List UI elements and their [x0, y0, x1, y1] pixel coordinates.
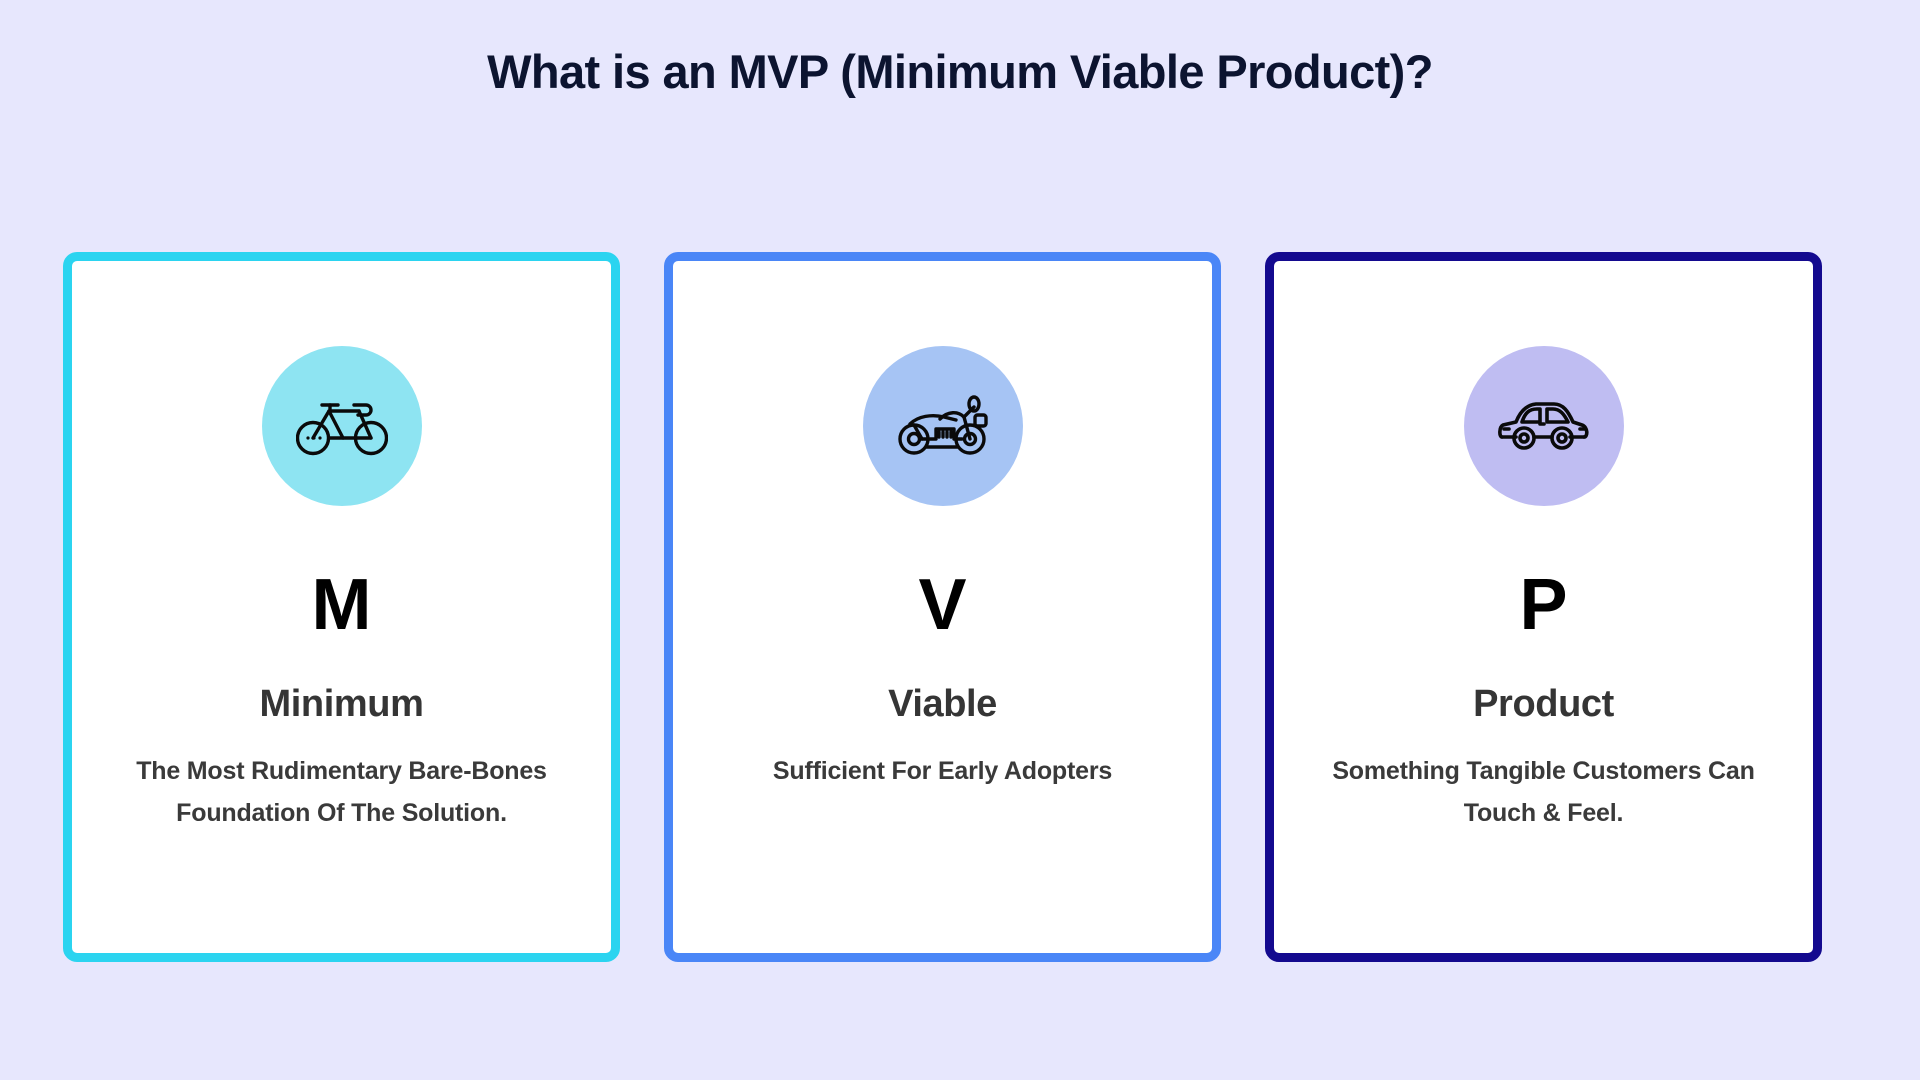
motorcycle-icon: [896, 393, 990, 459]
card-description-minimum: The Most Rudimentary Bare-Bones Foundati…: [102, 750, 582, 834]
card-subtitle-product: Product: [1473, 682, 1614, 726]
card-description-viable: Sufficient For Early Adopters: [703, 750, 1183, 792]
page-title: What is an MVP (Minimum Viable Product)?: [0, 36, 1920, 108]
mvp-card-viable[interactable]: V Viable Sufficient For Early Adopters: [664, 252, 1221, 962]
infographic-slide: What is an MVP (Minimum Viable Product)?: [0, 0, 1920, 1080]
card-letter-p: P: [1519, 568, 1567, 642]
mvp-card-product[interactable]: P Product Something Tangible Customers C…: [1265, 252, 1822, 962]
bicycle-icon-circle: [262, 346, 422, 506]
car-icon-circle: [1464, 346, 1624, 506]
card-description-product: Something Tangible Customers Can Touch &…: [1304, 750, 1784, 834]
mvp-card-grid: M Minimum The Most Rudimentary Bare-Bone…: [63, 252, 1822, 962]
card-letter-m: M: [312, 568, 372, 642]
card-subtitle-viable: Viable: [888, 682, 997, 726]
card-subtitle-minimum: Minimum: [260, 682, 424, 726]
car-icon: [1496, 396, 1592, 456]
bicycle-icon: [296, 395, 388, 457]
card-letter-v: V: [918, 568, 966, 642]
motorcycle-icon-circle: [863, 346, 1023, 506]
mvp-card-minimum[interactable]: M Minimum The Most Rudimentary Bare-Bone…: [63, 252, 620, 962]
